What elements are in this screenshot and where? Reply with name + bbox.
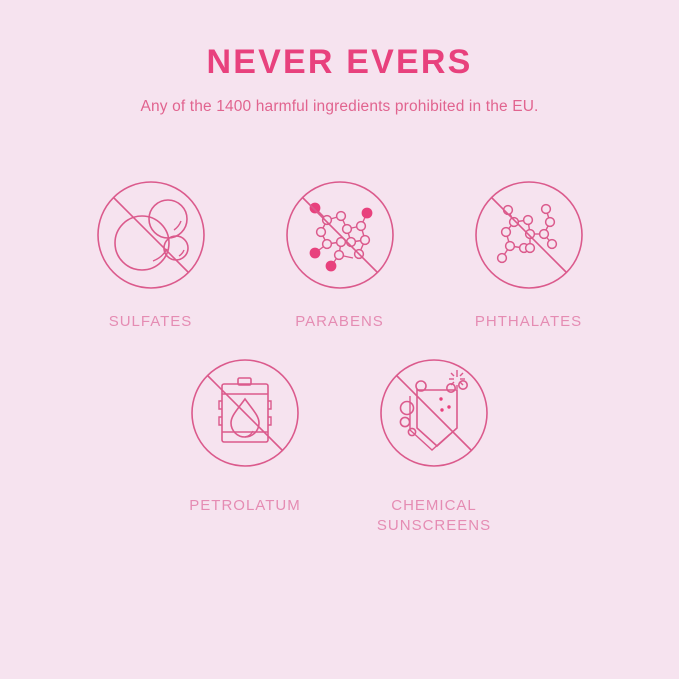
ingredient-item-parabens: PARABENS: [285, 180, 395, 332]
ingredient-label: PARABENS: [295, 312, 384, 332]
ingredient-row-1: SULFATES: [0, 180, 679, 332]
ingredient-item-petrolatum: PETROLATUM: [190, 358, 300, 537]
ingredient-label: SULFATES: [109, 312, 193, 332]
ingredient-row-2: PETROLATUM: [0, 358, 679, 537]
no-chemical-sunscreens-icon: [379, 358, 489, 468]
ingredient-grid: SULFATES: [0, 180, 679, 537]
ingredient-label: PHTHALATES: [475, 312, 582, 332]
ingredient-item-phthalates: PHTHALATES: [474, 180, 584, 332]
ingredient-item-sulfates: SULFATES: [96, 180, 206, 332]
page-subtitle: Any of the 1400 harmful ingredients proh…: [0, 97, 679, 117]
ingredient-item-chemical-sunscreens: CHEMICAL SUNSCREENS: [379, 358, 489, 537]
no-petrolatum-barrel-icon: [190, 358, 300, 468]
ingredient-label: CHEMICAL SUNSCREENS: [377, 496, 491, 537]
no-sulfates-bubbles-icon: [96, 180, 206, 290]
no-phthalates-molecule-icon: [474, 180, 584, 290]
header: NEVER EVERS Any of the 1400 harmful ingr…: [0, 0, 679, 118]
never-evers-infographic: NEVER EVERS Any of the 1400 harmful ingr…: [0, 0, 679, 679]
ingredient-label: PETROLATUM: [189, 496, 300, 516]
no-parabens-molecule-icon: [285, 180, 395, 290]
page-title: NEVER EVERS: [0, 44, 679, 81]
